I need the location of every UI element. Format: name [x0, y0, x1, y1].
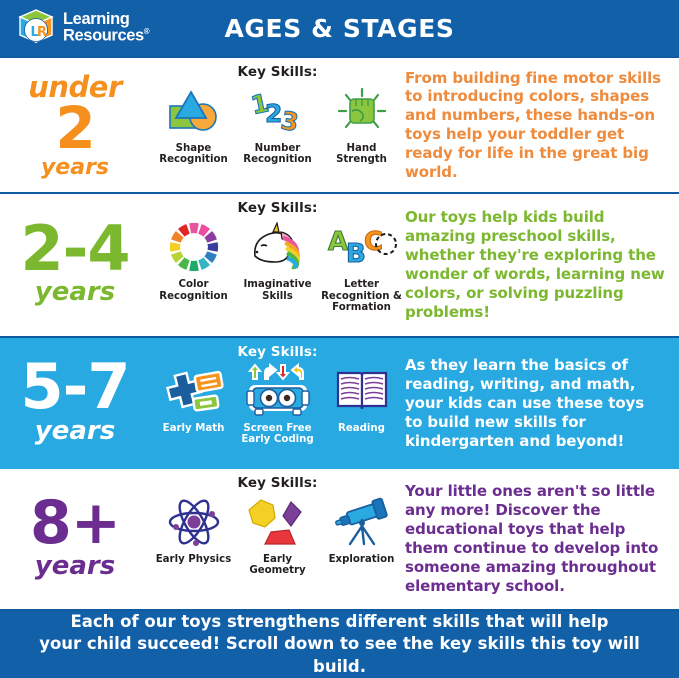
- skills-row: ShapeRecognition 1 2 3 NumberRecognition: [150, 82, 405, 166]
- skills-group: Key Skills: ShapeRecognition: [150, 58, 405, 192]
- age-section-5-7: 5-7 years Key Skills:: [0, 338, 679, 469]
- skill-letter-recognition: A B C LetterRecognition &Formation: [321, 218, 403, 313]
- age-number: 8+: [30, 498, 120, 549]
- age-number: 2: [55, 104, 94, 153]
- skill-label: Reading: [338, 423, 385, 434]
- skill-label: Early Physics: [156, 554, 232, 565]
- skills-row: ColorRecognition: [150, 218, 405, 313]
- abc-letters-icon: A B C: [326, 218, 398, 276]
- skill-label: EarlyGeometry: [249, 554, 305, 577]
- svg-text:3: 3: [278, 106, 300, 134]
- telescope-icon: [332, 493, 392, 551]
- skill-label: ImaginativeSkills: [243, 279, 311, 302]
- age-label-group: 8+ years: [0, 469, 150, 609]
- age-label-group: 5-7 years: [0, 338, 150, 469]
- skill-early-math: Early Math: [153, 362, 235, 446]
- age-number: 2-4: [20, 223, 129, 276]
- age-unit: years: [41, 155, 109, 180]
- key-skills-heading: Key Skills:: [238, 344, 318, 360]
- ages-and-stages-infographic: L R Learning Resources® AGES & STAGES un…: [0, 0, 679, 678]
- footer-message: Each of our toys strengthens different s…: [16, 611, 663, 678]
- skill-early-geometry: EarlyGeometry: [237, 493, 319, 577]
- skill-label: Hand Strength: [321, 143, 403, 166]
- fist-hand-strength-icon: [334, 82, 390, 140]
- description-wrap: From building fine motor skills to intro…: [405, 58, 679, 192]
- coding-robot-icon: [245, 362, 311, 420]
- plus-equals-math-icon: [164, 362, 224, 420]
- description-wrap: As they learn the basics of reading, wri…: [405, 338, 679, 469]
- skills-group: Key Skills:: [150, 338, 405, 469]
- age-unit: years: [35, 416, 115, 446]
- skill-label: Screen FreeEarly Coding: [241, 423, 313, 446]
- age-section-under-2: under 2 years Key Skills: ShapeRecognit: [0, 58, 679, 192]
- skill-screen-free-early-coding: Screen FreeEarly Coding: [237, 362, 319, 446]
- header-bar: L R Learning Resources® AGES & STAGES: [0, 0, 679, 56]
- color-wheel-icon: [168, 218, 220, 276]
- skill-early-physics: Early Physics: [153, 493, 235, 577]
- skill-exploration: Exploration: [321, 493, 403, 577]
- skill-label: ShapeRecognition: [159, 143, 227, 166]
- skill-shape-recognition: ShapeRecognition: [153, 82, 235, 166]
- age-section-2-4: 2-4 years Key Skills:: [0, 194, 679, 335]
- age-section-8-plus: 8+ years Key Skills:: [0, 469, 679, 609]
- skill-color-recognition: ColorRecognition: [153, 218, 235, 313]
- age-unit: years: [35, 277, 115, 307]
- footer-line-2: your child succeed! Scroll down to see t…: [39, 634, 640, 675]
- skills-group: Key Skills:: [150, 194, 405, 335]
- age-label-group: under 2 years: [0, 58, 150, 192]
- section-description: Your little ones aren't so little any mo…: [405, 482, 665, 595]
- skill-label: ColorRecognition: [159, 279, 227, 302]
- skills-group: Key Skills:: [150, 469, 405, 609]
- page-title: AGES & STAGES: [0, 14, 679, 43]
- skill-reading: Reading: [321, 362, 403, 446]
- open-book-icon: [334, 362, 390, 420]
- description-wrap: Our toys help kids build amazing prescho…: [405, 194, 679, 335]
- key-skills-heading: Key Skills:: [238, 200, 318, 216]
- age-number: 5-7: [20, 361, 129, 414]
- svg-text:B: B: [346, 239, 366, 269]
- age-unit: years: [35, 551, 115, 581]
- skill-label: Early Math: [163, 423, 225, 434]
- skills-row: Early Physics EarlyGeometry: [150, 493, 405, 577]
- unicorn-icon: [247, 218, 309, 276]
- numbers-123-icon: 1 2 3: [250, 82, 306, 140]
- description-wrap: Your little ones aren't so little any mo…: [405, 469, 679, 609]
- shapes-icon: [166, 82, 222, 140]
- key-skills-heading: Key Skills:: [238, 64, 318, 80]
- key-skills-heading: Key Skills:: [238, 475, 318, 491]
- skill-imaginative-skills: ImaginativeSkills: [237, 218, 319, 313]
- skill-label: Exploration: [329, 554, 395, 565]
- skill-number-recognition: 1 2 3 NumberRecognition: [237, 82, 319, 166]
- skill-label: LetterRecognition &Formation: [321, 279, 402, 313]
- atom-icon: [166, 493, 222, 551]
- age-label-group: 2-4 years: [0, 194, 150, 335]
- footer-line-1: Each of our toys strengthens different s…: [71, 612, 609, 631]
- footer-banner: Each of our toys strengthens different s…: [0, 611, 679, 678]
- geometry-shapes-icon: [245, 493, 311, 551]
- skill-hand-strength: Hand Strength: [321, 82, 403, 166]
- section-description: Our toys help kids build amazing prescho…: [405, 208, 665, 321]
- section-description: From building fine motor skills to intro…: [405, 69, 665, 182]
- skills-row: Early Math: [150, 362, 405, 446]
- section-description: As they learn the basics of reading, wri…: [405, 356, 665, 450]
- skill-label: NumberRecognition: [243, 143, 311, 166]
